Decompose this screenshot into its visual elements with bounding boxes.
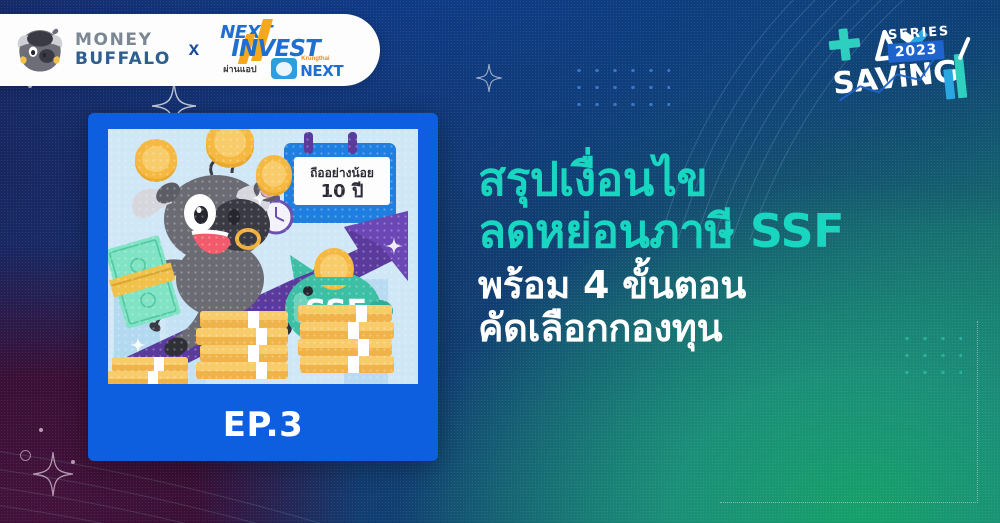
gold-coins	[135, 129, 292, 196]
headline-block: สรุปเงื่อนไข ลดหย่อนภาษี SSF พร้อม 4 ขั้…	[478, 152, 978, 351]
illustration-scene: ถืออย่างน้อย 10 ปี	[108, 129, 418, 384]
illustration-graphic: ถืออย่างน้อย 10 ปี	[108, 129, 418, 384]
logo-separator-x: x	[189, 39, 200, 61]
money-buffalo-logo[interactable]: MONEY BUFFALO	[14, 25, 171, 75]
purple-up-arrow	[118, 211, 408, 384]
stopwatch-icon	[260, 195, 292, 233]
piggy-bank: SSF	[285, 248, 393, 355]
episode-illustration-card: ถืออย่างน้อย 10 ปี	[88, 113, 438, 461]
logo-line-money: MONEY	[75, 32, 171, 49]
headline-line-3: พร้อม 4 ขั้นตอน	[478, 263, 978, 308]
next-invest-logo[interactable]: NEXT INVEST ผ่านแอป Krungthai NEXT	[215, 21, 365, 79]
banner-stage: MONEY BUFFALO x NEXT INVEST ผ่านแอป Krun…	[0, 0, 1000, 523]
svg-text:10 ปี: 10 ปี	[321, 181, 364, 202]
headline-line-4: คัดเลือกกองทุน	[478, 306, 978, 351]
episode-label: EP.3	[88, 405, 438, 445]
next-invest-thai-caption: ผ่านแอป	[223, 62, 256, 76]
headline-line-1: สรุปเงื่อนไข	[478, 152, 978, 206]
wall-calendar: ถืออย่างน้อย 10 ปี	[284, 132, 396, 223]
badge-year: 2023	[887, 40, 944, 63]
cash-bundle	[108, 234, 185, 330]
krungthai-next-label: NEXT	[300, 62, 343, 80]
buffalo-mascot	[132, 161, 294, 360]
coin-stacks	[108, 305, 394, 384]
money-buffalo-wordmark: MONEY BUFFALO	[75, 32, 171, 68]
brand-logo-bar: MONEY BUFFALO x NEXT INVEST ผ่านแอป Krun…	[0, 14, 380, 86]
headline-line-2: ลดหย่อนภาษี SSF	[478, 204, 978, 258]
svg-text:ถืออย่างน้อย: ถืออย่างน้อย	[310, 166, 374, 180]
krungthai-mark-icon	[271, 58, 297, 79]
svg-text:SSF: SSF	[305, 294, 367, 329]
logo-line-buffalo: BUFFALO	[75, 51, 171, 68]
buffalo-head-icon	[14, 25, 66, 75]
tax-saving-badge: SAViNG SERIES 2023	[802, 6, 992, 114]
